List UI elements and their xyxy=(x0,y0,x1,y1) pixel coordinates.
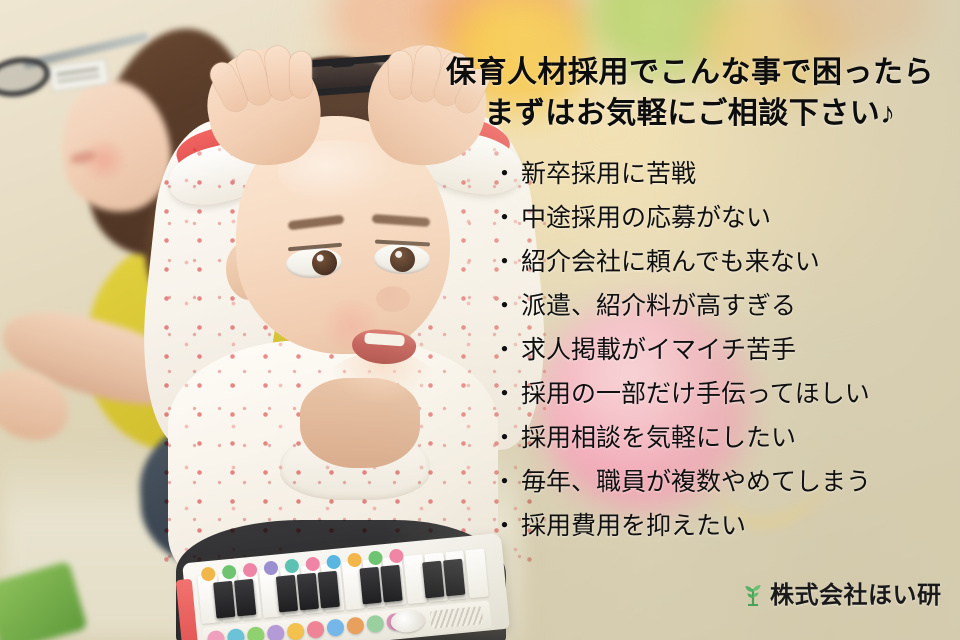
bullet-marker-icon: ・ xyxy=(492,284,517,328)
list-item: ・採用費用を抑えたい xyxy=(492,504,932,548)
list-item: ・毎年、職員が複数やめてしまう xyxy=(492,460,932,504)
bullet-marker-icon: ・ xyxy=(492,152,517,196)
headline-line-1: 保育人材採用でこんな事で困ったら xyxy=(420,52,960,93)
list-item-label: 採用費用を抑えたい xyxy=(521,504,746,548)
list-item-label: 紹介会社に頼んでも来ない xyxy=(521,240,820,284)
list-item: ・中途採用の応募がない xyxy=(492,196,932,240)
list-item-label: 派遣、紹介料が高すぎる xyxy=(521,284,796,328)
list-item: ・求人掲載がイマイチ苦手 xyxy=(492,328,932,372)
promo-banner: 保育人材採用でこんな事で困ったら まずはお気軽にご相談下さい♪ ・新卒採用に苦戦… xyxy=(0,0,960,640)
pain-point-list: ・新卒採用に苦戦 ・中途採用の応募がない ・紹介会社に頼んでも来ない ・派遣、紹… xyxy=(492,152,932,548)
list-item-label: 採用相談を気軽にしたい xyxy=(521,416,796,460)
bullet-marker-icon: ・ xyxy=(492,372,517,416)
list-item-label: 求人掲載がイマイチ苦手 xyxy=(521,328,796,372)
list-item: ・新卒採用に苦戦 xyxy=(492,152,932,196)
bullet-marker-icon: ・ xyxy=(492,328,517,372)
list-item-label: 新卒採用に苦戦 xyxy=(521,152,696,196)
company-name: 株式会社ほい研 xyxy=(770,575,942,610)
list-item: ・採用相談を気軽にしたい xyxy=(492,416,932,460)
bullet-marker-icon: ・ xyxy=(492,196,517,240)
headline-line-2: まずはお気軽にご相談下さい♪ xyxy=(420,93,960,134)
bullet-marker-icon: ・ xyxy=(492,416,517,460)
list-item-label: 毎年、職員が複数やめてしまう xyxy=(521,460,871,504)
list-item-label: 採用の一部だけ手伝ってほしい xyxy=(521,372,870,416)
sprout-icon xyxy=(742,580,764,606)
bullet-marker-icon: ・ xyxy=(492,240,517,284)
bullet-marker-icon: ・ xyxy=(492,504,517,548)
text-overlay: 保育人材採用でこんな事で困ったら まずはお気軽にご相談下さい♪ ・新卒採用に苦戦… xyxy=(0,0,960,640)
list-item-label: 中途採用の応募がない xyxy=(521,196,771,240)
bullet-marker-icon: ・ xyxy=(492,460,517,504)
list-item: ・派遣、紹介料が高すぎる xyxy=(492,284,932,328)
list-item: ・採用の一部だけ手伝ってほしい xyxy=(492,372,932,416)
list-item: ・紹介会社に頼んでも来ない xyxy=(492,240,932,284)
headline: 保育人材採用でこんな事で困ったら まずはお気軽にご相談下さい♪ xyxy=(0,52,960,135)
company-logo: 株式会社ほい研 xyxy=(742,575,942,610)
